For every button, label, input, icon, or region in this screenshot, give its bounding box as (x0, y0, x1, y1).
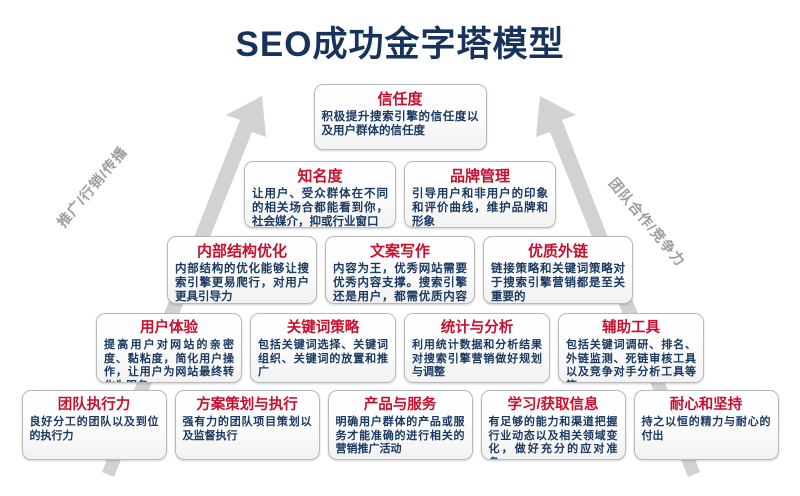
pyramid-box-awareness[interactable]: 知名度 让用户、受众群体在不同的相关场合都能看到你，社会媒介，抑或行业窗口 (244, 161, 396, 228)
pyramid-box-internal-structure[interactable]: 内部结构优化 内部结构的优化能够让搜索引擎更易爬行，对用户更具引导力 (167, 236, 317, 304)
pyramid-box-keyword-strategy[interactable]: 关键词策略 包括关键词选择、关键词组织、关键词的放置和推广 (250, 313, 396, 383)
box-body: 提高用户对网站的亲密度、黏粘度，简化用户操作，让用户为网站最终转化为服务 (104, 339, 234, 383)
box-body: 强有力的团队项目策划以及监督执行 (183, 416, 312, 443)
box-title: 知名度 (252, 167, 388, 186)
box-body: 持之以恒的精力与耐心的付出 (642, 416, 771, 443)
box-body: 明确用户群体的产品或服务才能准确的进行相关的营销推广活动 (336, 416, 465, 457)
box-title: 辅助工具 (566, 319, 696, 338)
box-body: 内容为王，优秀网站需要优秀内容支撑。搜索引擎还是用户，都需优质内容来满足 (333, 262, 467, 304)
pyramid-box-team-execution[interactable]: 团队执行力 良好分工的团队以及到位的执行力 (22, 390, 167, 460)
box-body: 良好分工的团队以及到位的执行力 (30, 416, 159, 443)
pyramid-level-2: 知名度 让用户、受众群体在不同的相关场合都能看到你，社会媒介，抑或行业窗口 品牌… (0, 161, 800, 228)
box-title: 信任度 (322, 90, 479, 109)
pyramid-level-1: 信任度 积极提升搜索引擎的信任度以及用户群体的信任度 (0, 84, 800, 150)
pyramid-box-patience-persistence[interactable]: 耐心和坚持 持之以恒的精力与耐心的付出 (634, 390, 779, 460)
pyramid-diagram-canvas: SEO成功金字塔模型 推广/行销/传播 团队合作/竞争力 信任度 积极提升搜索引… (0, 0, 800, 496)
pyramid-box-copywriting[interactable]: 文案写作 内容为王，优秀网站需要优秀内容支撑。搜索引擎还是用户，都需优质内容来满… (325, 236, 475, 304)
box-title: 内部结构优化 (175, 242, 309, 261)
pyramid-level-4: 用户体验 提高用户对网站的亲密度、黏粘度，简化用户操作，让用户为网站最终转化为服… (0, 313, 800, 383)
box-body: 有足够的能力和渠道把握行业动态以及相关领域变化，做好充分的应对准备。 (489, 416, 618, 460)
pyramid-box-product-service[interactable]: 产品与服务 明确用户群体的产品或服务才能准确的进行相关的营销推广活动 (328, 390, 473, 460)
box-body: 利用统计数据和分析结果对搜索引擎营销做好规划与调整 (412, 339, 542, 380)
box-title: 耐心和坚持 (642, 396, 771, 415)
pyramid-box-auxiliary-tools[interactable]: 辅助工具 包括关键词调研、排名、外链监测、死链审核工具以及竞争对手分析工具等等。 (558, 313, 704, 383)
box-title: 方案策划与执行 (183, 396, 312, 415)
pyramid-box-plan-execution[interactable]: 方案策划与执行 强有力的团队项目策划以及监督执行 (175, 390, 320, 460)
box-body: 包括关键词调研、排名、外链监测、死链审核工具以及竞争对手分析工具等等。 (566, 339, 696, 383)
pyramid-box-brand-management[interactable]: 品牌管理 引导用户和非用户的印象和评价曲线，维护品牌和形象 (404, 161, 556, 228)
pyramid-level-3: 内部结构优化 内部结构的优化能够让搜索引擎更易爬行，对用户更具引导力 文案写作 … (0, 236, 800, 304)
box-body: 内部结构的优化能够让搜索引擎更易爬行，对用户更具引导力 (175, 262, 309, 304)
pyramid-box-statistics-analysis[interactable]: 统计与分析 利用统计数据和分析结果对搜索引擎营销做好规划与调整 (404, 313, 550, 383)
pyramid-box-user-experience[interactable]: 用户体验 提高用户对网站的亲密度、黏粘度，简化用户操作，让用户为网站最终转化为服… (96, 313, 242, 383)
box-body: 链接策略和关键词策略对于搜索引擎营销都是至关重要的 (491, 262, 625, 304)
box-title: 文案写作 (333, 242, 467, 261)
box-body: 让用户、受众群体在不同的相关场合都能看到你，社会媒介，抑或行业窗口 (252, 187, 388, 228)
pyramid-box-quality-backlinks[interactable]: 优质外链 链接策略和关键词策略对于搜索引擎营销都是至关重要的 (483, 236, 633, 304)
box-title: 团队执行力 (30, 396, 159, 415)
box-body: 包括关键词选择、关键词组织、关键词的放置和推广 (258, 339, 388, 380)
box-title: 产品与服务 (336, 396, 465, 415)
pyramid-box-trust[interactable]: 信任度 积极提升搜索引擎的信任度以及用户群体的信任度 (314, 84, 487, 150)
box-title: 优质外链 (491, 242, 625, 261)
box-title: 用户体验 (104, 319, 234, 338)
box-body: 引导用户和非用户的印象和评价曲线，维护品牌和形象 (412, 187, 548, 228)
box-title: 学习/获取信息 (489, 396, 618, 415)
box-title: 品牌管理 (412, 167, 548, 186)
box-title: 统计与分析 (412, 319, 542, 338)
pyramid-box-learning-information[interactable]: 学习/获取信息 有足够的能力和渠道把握行业动态以及相关领域变化，做好充分的应对准… (481, 390, 626, 460)
box-body: 积极提升搜索引擎的信任度以及用户群体的信任度 (322, 110, 479, 138)
pyramid-level-5: 团队执行力 良好分工的团队以及到位的执行力 方案策划与执行 强有力的团队项目策划… (0, 390, 800, 460)
box-title: 关键词策略 (258, 319, 388, 338)
